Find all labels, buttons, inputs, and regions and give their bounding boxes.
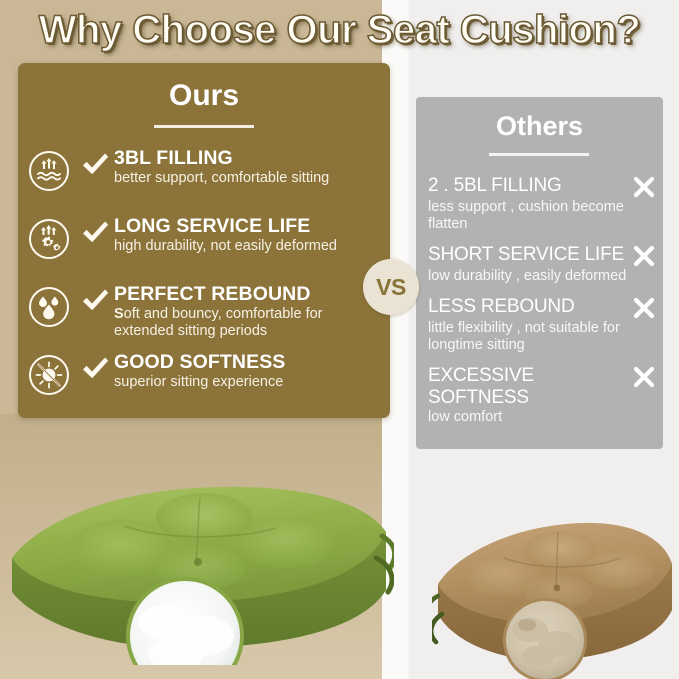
feature-subtitle: superior sitting experience xyxy=(114,374,382,391)
check-icon xyxy=(80,283,114,320)
page-title: Why Choose Our Seat Cushion? xyxy=(0,4,679,58)
list-item: EXCESSIVE SOFTNESS low comfort xyxy=(428,365,658,426)
x-icon xyxy=(632,365,658,389)
others-panel: Others 2 . 5BL FILLING less support , cu… xyxy=(416,97,663,449)
check-icon xyxy=(80,147,114,184)
drawback-title: EXCESSIVE SOFTNESS xyxy=(428,365,628,409)
check-icon xyxy=(80,351,114,388)
drawback-subtitle: little flexibility , not suitable for lo… xyxy=(428,320,658,354)
drawback-title: SHORT SERVICE LIFE xyxy=(428,244,624,266)
arrows-over-gears-icon xyxy=(29,219,69,259)
feature-subtitle: Soft and bouncy, comfortable for extende… xyxy=(114,306,382,340)
x-icon xyxy=(632,296,658,320)
list-item: SHORT SERVICE LIFE low durability , easi… xyxy=(428,244,658,285)
list-item: LESS REBOUND little flexibility , not su… xyxy=(428,296,658,354)
feature-subtitle: better support, comfortable sitting xyxy=(114,170,382,187)
list-item: LONG SERVICE LIFE high durability, not e… xyxy=(18,215,390,273)
feature-title: 3BL FILLING xyxy=(114,147,382,169)
water-drops-icon xyxy=(29,287,69,327)
others-heading-rule xyxy=(489,153,589,156)
no-sun-burst-icon xyxy=(29,355,69,395)
list-item: 3BL FILLING better support, comfortable … xyxy=(18,147,390,205)
list-item: GOOD SOFTNESS superior sitting experienc… xyxy=(18,351,390,409)
x-icon xyxy=(632,175,658,199)
vs-badge: VS xyxy=(363,259,419,315)
drawback-subtitle: less support , cushion become flatten xyxy=(428,199,658,233)
others-drawback-list: 2 . 5BL FILLING less support , cushion b… xyxy=(428,175,658,437)
feature-title: GOOD SOFTNESS xyxy=(114,351,382,373)
ours-heading: Ours xyxy=(18,79,390,113)
others-cushion-image xyxy=(432,492,676,679)
drawback-subtitle: low comfort xyxy=(428,409,658,426)
ours-panel: Ours xyxy=(18,63,390,418)
feature-subtitle-lead: S xyxy=(114,306,124,322)
feature-title: PERFECT REBOUND xyxy=(114,283,382,305)
ours-cushion-image xyxy=(4,440,394,665)
ours-feature-list: 3BL FILLING better support, comfortable … xyxy=(18,147,390,419)
ours-heading-rule xyxy=(154,125,254,128)
drawback-title: 2 . 5BL FILLING xyxy=(428,175,562,197)
check-icon xyxy=(80,215,114,252)
feature-subtitle-rest: oft and bouncy, comfortable for extended… xyxy=(114,306,323,339)
feature-title: LONG SERVICE LIFE xyxy=(114,215,382,237)
drawback-title: LESS REBOUND xyxy=(428,296,574,318)
others-heading: Others xyxy=(416,111,663,142)
x-icon xyxy=(632,244,658,268)
infographic-canvas: Why Choose Our Seat Cushion? Ours xyxy=(0,0,679,679)
arrows-over-waves-icon xyxy=(29,151,69,191)
drawback-subtitle: low durability , easily deformed xyxy=(428,268,658,285)
list-item: PERFECT REBOUND Soft and bouncy, comfort… xyxy=(18,283,390,341)
list-item: 2 . 5BL FILLING less support , cushion b… xyxy=(428,175,658,233)
feature-subtitle: high durability, not easily deformed xyxy=(114,238,382,255)
